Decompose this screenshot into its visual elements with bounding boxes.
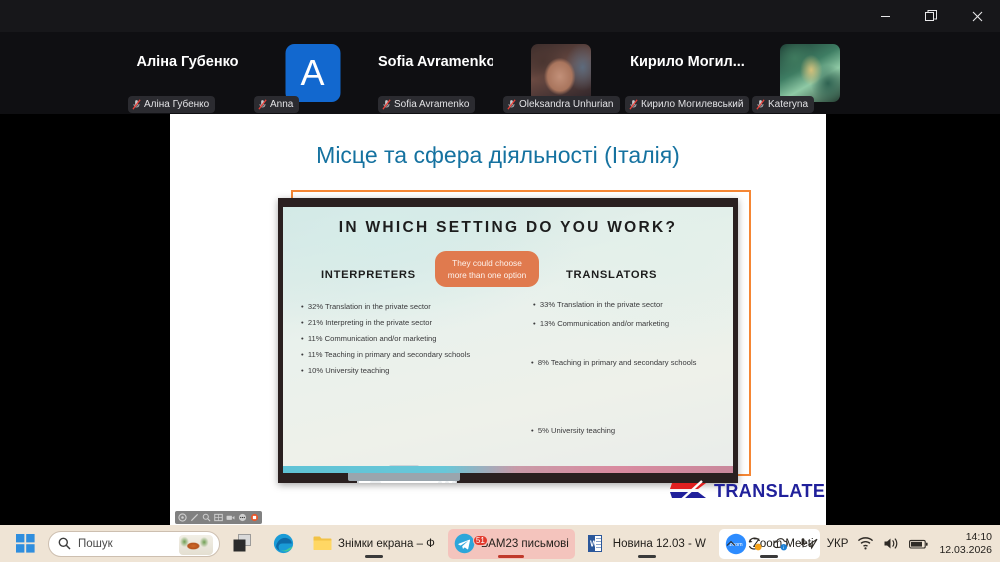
participant-name: Кирило Могил... [625,54,750,70]
bullet-item: • 21% Interpreting in the private sector [301,317,432,328]
language-indicator[interactable]: УКР [827,538,849,550]
whiteboard-dot-icon [438,481,442,484]
bullet-text: 33% Translation in the private sector [540,300,663,309]
slide-photo: IN WHICH SETTING DO YOU WORK? They could… [278,198,738,483]
mic-off-icon [756,99,765,110]
bullet-item: • 10% University teaching [301,365,389,376]
taskbar-app-label: БАМ23 письмові [481,538,569,550]
mic-off-icon [629,99,638,110]
name-chip-label: Oleksandra Unhurian [519,99,614,110]
whiteboard-dot-icon [452,481,456,484]
folder-icon [313,535,332,552]
name-chip-label: Кирило Могилевський [641,99,743,110]
camera-icon[interactable] [226,513,235,522]
note-badge-line2: more than one option [448,269,526,281]
taskbar-app-telegram[interactable]: 51 БАМ23 письмові [448,529,575,559]
screenshare-letterbox-right [826,114,1000,525]
telegram-unread-badge: 51 [473,535,488,546]
name-chip-oleksandra: Oleksandra Unhurian [503,96,620,113]
translatel-mark-icon [668,479,710,503]
windows-taskbar: Пошук З [0,525,1000,562]
windows-logo-icon [16,534,35,553]
taskbar-app-file-explorer[interactable]: Знімки екрана – Ф [307,529,441,559]
bullet-item: • 13% Communication and/or marketing [533,318,669,329]
bullet-text: 21% Interpreting in the private sector [308,318,432,327]
mic-off-icon [258,99,267,110]
name-chip-label: Kateryna [768,99,808,110]
avatar: A [285,44,340,102]
name-chip-alina: Аліна Губенко [128,96,215,113]
participant-name: Аліна Губенко [130,54,245,70]
bullet-text: 11% Teaching in primary and secondary sc… [308,350,470,359]
battery-icon[interactable] [909,537,928,551]
word-icon: W [588,534,607,553]
participant-video-thumbnail [531,44,591,102]
mic-send-icon[interactable] [798,536,818,551]
shared-slide: Місце та сфера діяльності (Італія) IN WH… [170,114,826,525]
task-view-icon [233,534,254,553]
more-icon[interactable] [238,513,247,522]
bullet-text: 8% Teaching in primary and secondary sch… [538,358,697,367]
close-icon [972,11,983,22]
volume-icon[interactable] [883,536,900,551]
sync-icon[interactable] [746,535,763,552]
clock[interactable]: 14:10 12.03.2026 [939,531,992,557]
taskbar-app-label: Новина 12.03 - W [613,538,706,550]
onedrive-icon[interactable]: i [772,535,789,552]
window-titlebar [0,0,1000,32]
bullet-text: 13% Communication and/or marketing [540,319,669,328]
bullet-item: • 8% Teaching in primary and secondary s… [531,357,711,368]
column-heading-interpreters: INTERPRETERS [321,269,416,281]
translatel-logo-text: TRANSLATEL [714,481,826,502]
svg-text:i: i [783,545,784,550]
taskbar-left-group: Пошук З [10,525,820,562]
photo-bottom-accent-bar [283,466,733,473]
slide-title: Місце та сфера діяльності (Італія) [170,142,826,169]
taskbar-app-word[interactable]: W Новина 12.03 - W [582,529,712,559]
search-icon [58,537,71,550]
bullet-text: 10% University teaching [308,366,389,375]
mic-off-icon [507,99,516,110]
name-chip-sofia: Sofia Avramenko [378,96,475,113]
taskbar-app-label: Знімки екрана – Ф [338,538,435,550]
search-input[interactable]: Пошук [78,538,113,550]
window-close-button[interactable] [954,0,1000,32]
screen: Аліна Губенко A Sofia Avramenko Кирило М… [0,0,1000,562]
taskbar-app-active-indicator [365,555,383,558]
bullet-text: 32% Translation in the private sector [308,302,431,311]
participant-name-chips: Аліна Губенко Anna Sofia Avramenko [0,96,1000,114]
chevron-up-icon[interactable] [725,538,737,550]
pointer-icon[interactable] [178,513,187,522]
minimize-icon [880,11,891,22]
name-chip-anna: Anna [254,96,299,113]
start-button[interactable] [10,529,41,559]
name-chip-kyrylo: Кирило Могилевський [625,96,749,113]
clock-date: 12.03.2026 [939,544,992,557]
window-minimize-button[interactable] [862,0,908,32]
zoom-meeting-window: Аліна Губенко A Sofia Avramenko Кирило М… [0,0,1000,525]
name-chip-kateryna: Kateryna [752,96,814,113]
screenshare-letterbox-left [0,114,170,525]
translatel-logo: TRANSLATEL [668,479,826,505]
participant-avatar-image [780,44,840,102]
bullet-item: • 32% Translation in the private sector [301,301,431,312]
bullet-text: 11% Communication and/or marketing [308,334,437,343]
note-badge-line1: They could choose [452,257,522,269]
whiteboard-handle-icon [370,481,381,484]
clock-time: 14:10 [939,531,992,544]
mic-off-icon [382,99,391,110]
restore-icon [925,10,937,22]
pen-icon[interactable] [190,513,199,522]
whiteboard-dot-icon [445,481,449,484]
magnifier-icon[interactable] [202,513,211,522]
taskbar-search[interactable]: Пошук [48,531,220,557]
bullet-item: • 11% Communication and/or marketing [301,333,436,344]
taskbar-app-edge[interactable] [267,529,300,559]
bullet-item: • 33% Translation in the private sector [533,299,663,310]
window-restore-button[interactable] [908,0,954,32]
slides-icon[interactable] [214,513,223,522]
taskbar-app-active-indicator [498,555,524,558]
name-chip-label: Аліна Губенко [144,99,209,110]
search-doodle-icon [179,535,213,555]
photo-content: IN WHICH SETTING DO YOU WORK? They could… [283,207,733,473]
column-heading-translators: TRANSLATORS [566,269,657,281]
wifi-icon[interactable] [857,536,874,551]
system-tray: i УКР [725,525,992,562]
stop-icon[interactable] [250,513,259,522]
name-chip-label: Anna [270,99,293,110]
bullet-text: 5% University teaching [538,426,615,435]
task-view-button[interactable] [227,529,260,559]
taskbar-app-active-indicator [638,555,656,558]
note-badge: They could choose more than one option [435,251,539,287]
presenter-mini-toolbar[interactable] [175,511,262,524]
bullet-item: • 5% University teaching [531,425,615,436]
name-chip-label: Sofia Avramenko [394,99,469,110]
telegram-icon-wrap: 51 [454,533,475,554]
participant-name: Sofia Avramenko [378,54,493,70]
edge-icon [273,533,294,554]
telegram-icon [454,533,475,554]
mic-off-icon [132,99,141,110]
bullet-item: • 11% Teaching in primary and secondary … [301,349,470,360]
photo-question-heading: IN WHICH SETTING DO YOU WORK? [283,219,733,237]
